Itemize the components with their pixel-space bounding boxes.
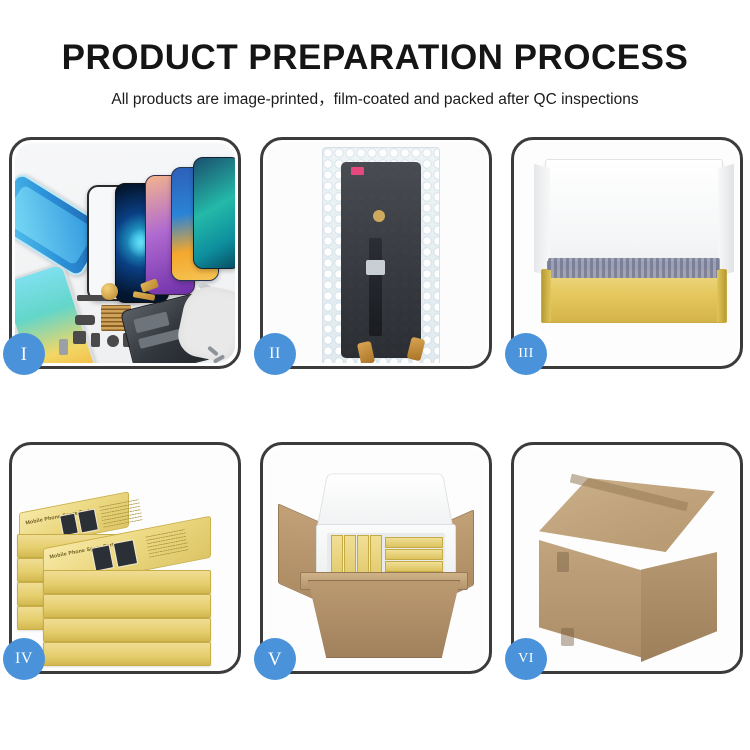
carton-handle-cutout-top bbox=[557, 552, 569, 572]
page-header: PRODUCT PREPARATION PROCESS All products… bbox=[0, 0, 750, 108]
carton-handle-cutout-bottom bbox=[561, 628, 574, 646]
step-2-image bbox=[266, 143, 486, 363]
retail-box-front-1 bbox=[43, 570, 211, 594]
box-thumbnail-d bbox=[113, 539, 138, 568]
spare-part-speaker bbox=[101, 283, 118, 300]
screen-camera-hole bbox=[373, 210, 385, 222]
process-step-panel-4: Mobile Phone Spare Parts Mobile Phone Sp… bbox=[9, 442, 241, 674]
step-badge-5: V bbox=[254, 638, 296, 680]
retail-box-front-4 bbox=[43, 642, 211, 666]
spare-part-sim-tray bbox=[59, 339, 68, 355]
bubble-wrap-bag bbox=[322, 147, 440, 363]
retail-box-front-2 bbox=[43, 594, 211, 618]
foam-lid bbox=[316, 474, 454, 532]
process-step-panel-3: III bbox=[511, 137, 743, 369]
gold-box-tray bbox=[541, 269, 727, 323]
pink-label bbox=[351, 167, 364, 175]
product-preparation-process-page: PRODUCT PREPARATION PROCESS All products… bbox=[0, 0, 750, 750]
retail-box-in-carton-7 bbox=[385, 561, 443, 572]
step-3-image bbox=[517, 143, 737, 363]
phone-screen-teal bbox=[193, 157, 235, 269]
process-step-panel-2: II bbox=[260, 137, 492, 369]
spare-part-module bbox=[75, 315, 95, 325]
step-badge-2: II bbox=[254, 333, 296, 375]
retail-box-in-carton-6 bbox=[385, 549, 443, 560]
spare-part-camera bbox=[73, 331, 86, 344]
carton-side-face bbox=[641, 552, 717, 662]
step-1-image bbox=[15, 143, 235, 363]
step-badge-6: VI bbox=[505, 638, 547, 680]
step-5-image bbox=[266, 448, 486, 668]
page-title: PRODUCT PREPARATION PROCESS bbox=[0, 0, 750, 75]
process-steps-grid: I II III bbox=[9, 137, 743, 682]
page-subtitle: All products are image-printed，film-coat… bbox=[0, 75, 750, 108]
flex-cable bbox=[369, 238, 382, 336]
retail-box-stack: Mobile Phone Spare Parts Mobile Phone Sp… bbox=[17, 472, 235, 668]
process-step-panel-5: V bbox=[260, 442, 492, 674]
retail-box-in-carton-5 bbox=[385, 537, 443, 548]
process-step-panel-6: VI bbox=[511, 442, 743, 674]
spare-part-home-button bbox=[107, 335, 119, 347]
box-thumbnail-b bbox=[77, 508, 99, 533]
retail-box-front-3 bbox=[43, 618, 211, 642]
process-step-panel-1: I bbox=[9, 137, 241, 369]
carton-front-face bbox=[308, 580, 460, 658]
step-4-image: Mobile Phone Spare Parts Mobile Phone Sp… bbox=[15, 448, 235, 668]
step-badge-1: I bbox=[3, 333, 45, 375]
step-6-image bbox=[517, 448, 737, 668]
step-badge-3: III bbox=[505, 333, 547, 375]
spare-part-button bbox=[91, 333, 100, 347]
step-badge-4: IV bbox=[3, 638, 45, 680]
carton-front-face bbox=[539, 540, 643, 658]
